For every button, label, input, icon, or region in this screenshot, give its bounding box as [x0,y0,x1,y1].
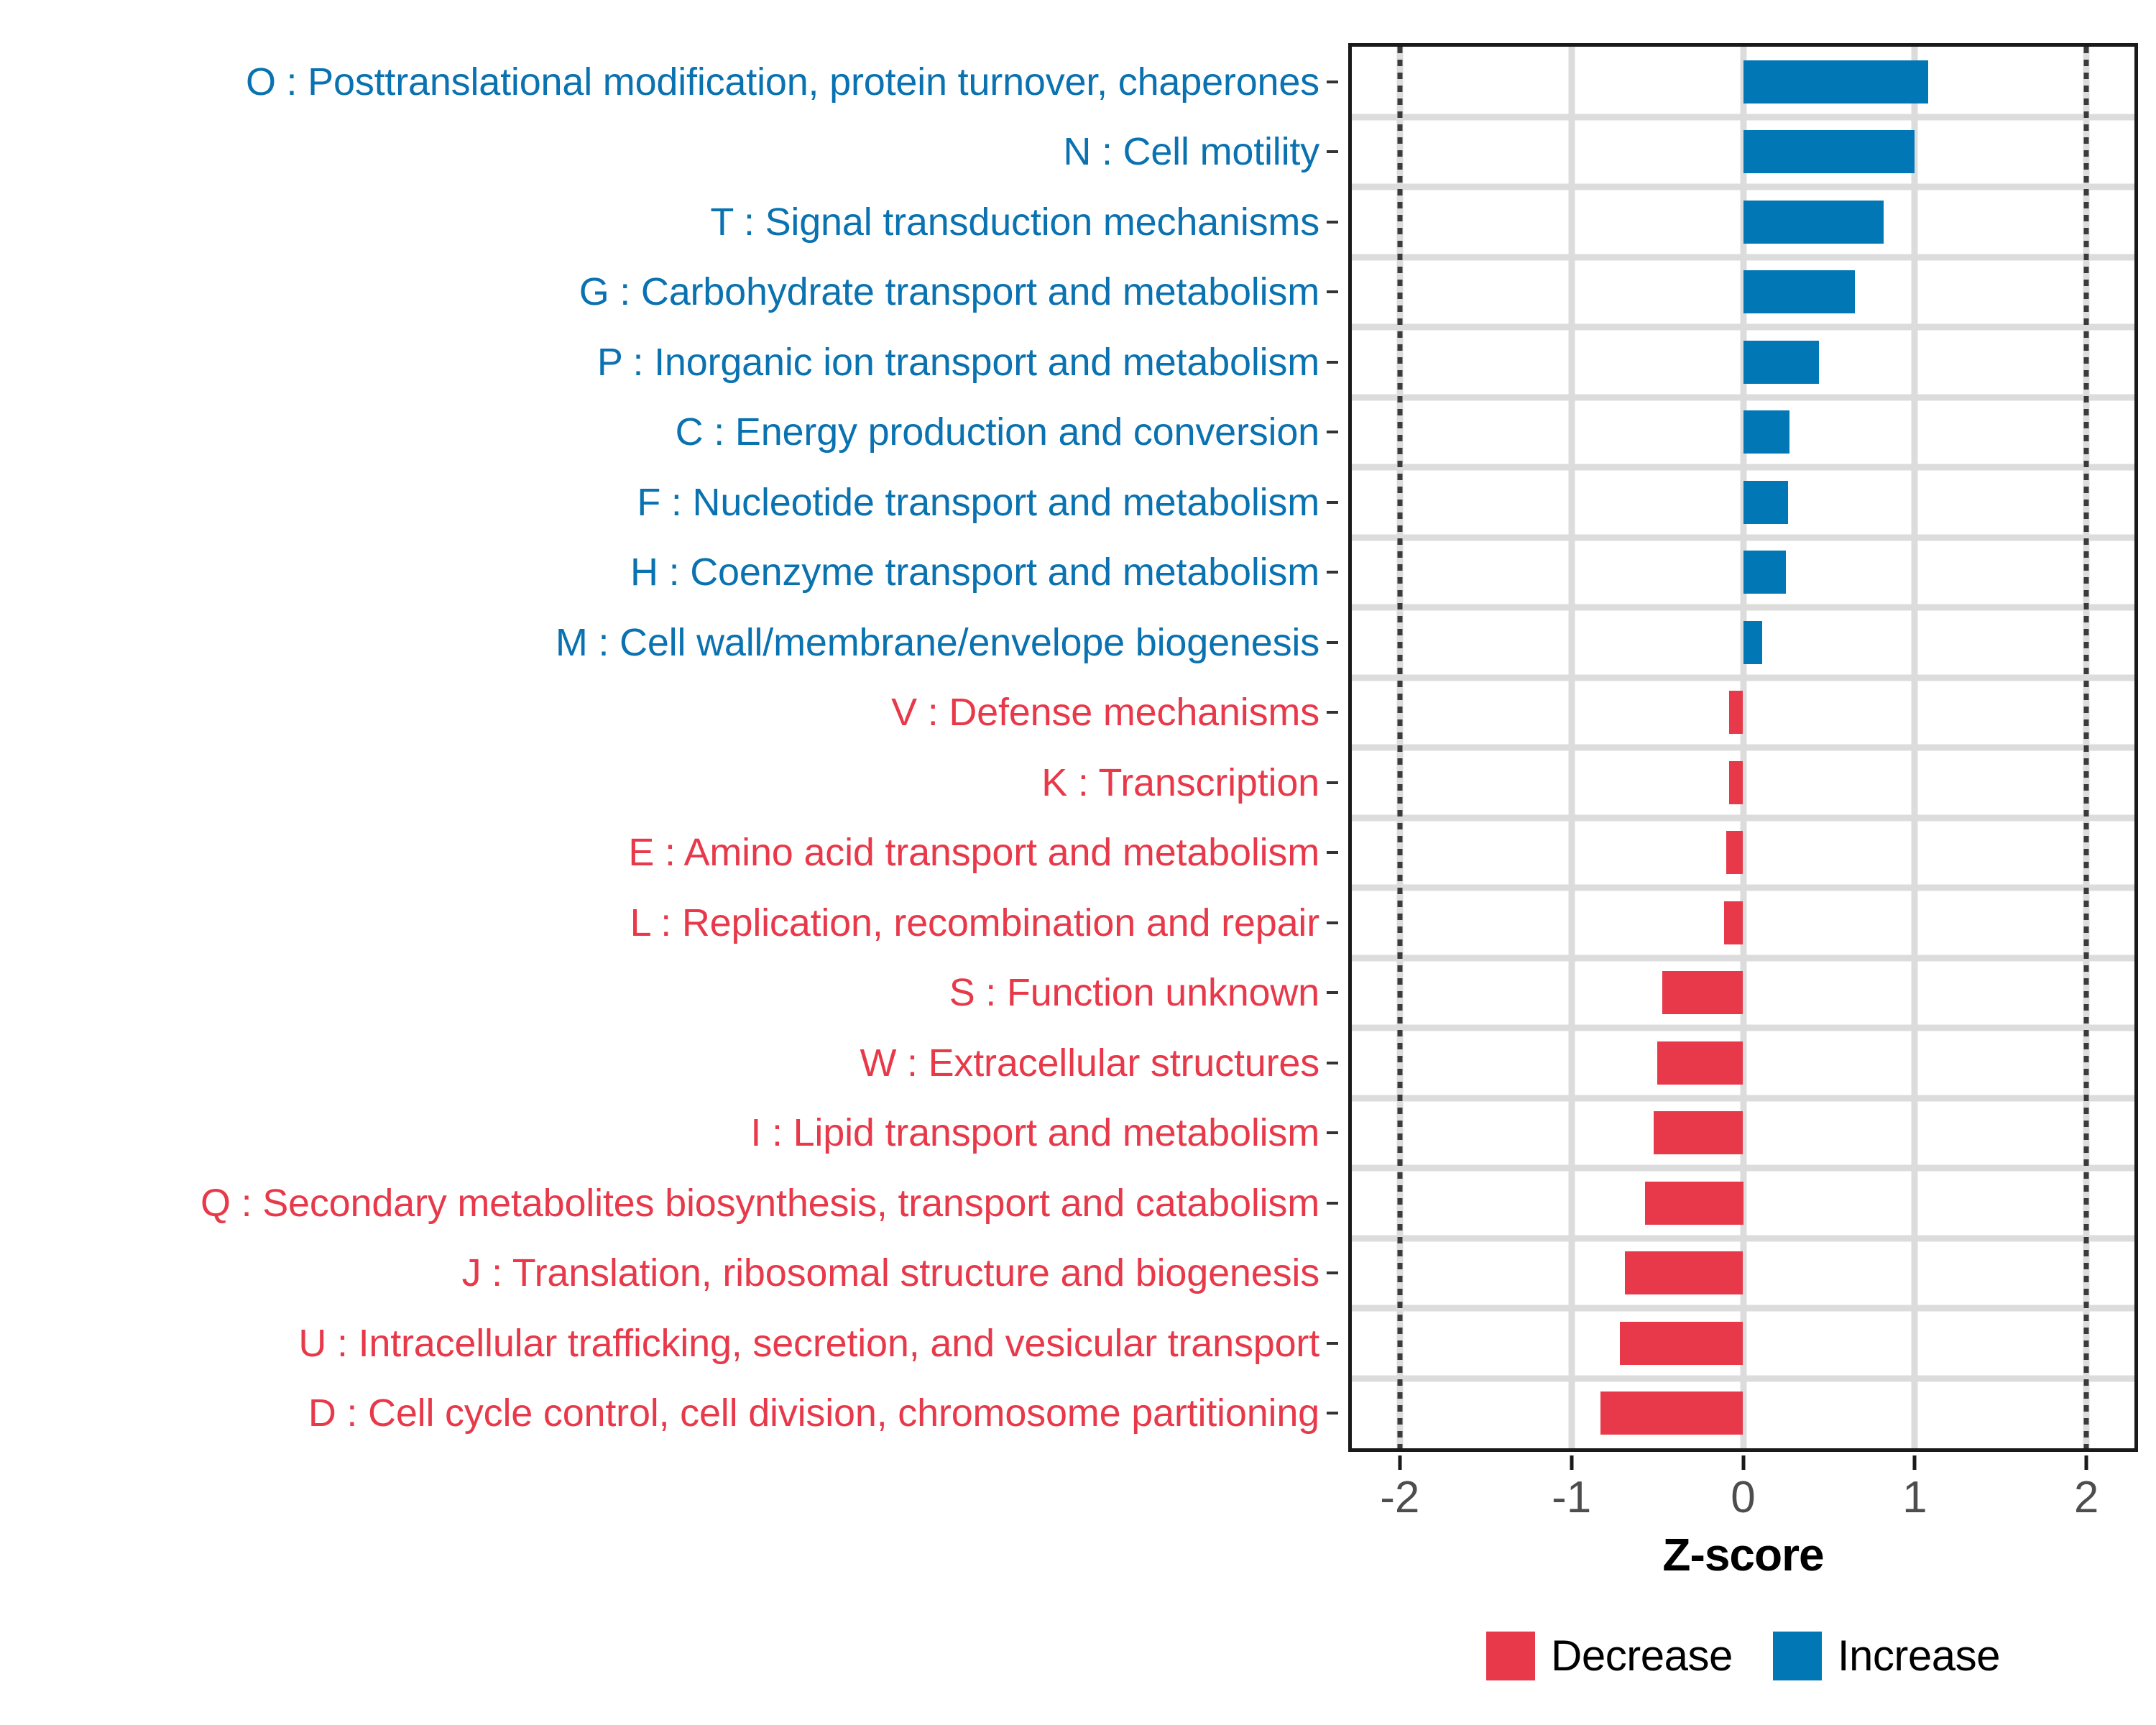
vertical-gridline [1568,47,1575,1448]
bar[interactable] [1743,60,1929,103]
bar[interactable] [1743,551,1787,594]
bar[interactable] [1743,410,1789,454]
category-label: G : Carbohydrate transport and metabolis… [0,270,1338,313]
bar[interactable] [1620,1322,1743,1365]
category-tick-icon [1327,501,1338,504]
category-label: M : Cell wall/membrane/envelope biogenes… [0,621,1338,664]
category-tick-icon [1327,571,1338,574]
x-axis-tick-label: 0 [1731,1472,1755,1524]
bar[interactable] [1729,761,1743,804]
plot-panel [1348,43,2138,1452]
category-label: H : Coenzyme transport and metabolism [0,551,1338,594]
category-tick-icon [1327,921,1338,924]
chart-root: O : Posttranslational modification, prot… [0,0,2156,1725]
category-label: E : Amino acid transport and metabolism [0,831,1338,874]
category-tick-icon [1327,361,1338,364]
category-tick-icon [1327,781,1338,784]
category-tick-icon [1327,851,1338,854]
category-label: O : Posttranslational modification, prot… [0,60,1338,103]
bar[interactable] [1625,1251,1743,1294]
x-axis-tick-icon [2085,1455,2088,1470]
legend-label-decrease: Decrease [1551,1632,1733,1680]
x-axis-tick-label: -1 [1552,1472,1591,1524]
category-tick-icon [1327,711,1338,714]
bar[interactable] [1662,971,1743,1014]
category-label: L : Replication, recombination and repai… [0,901,1338,944]
category-label: N : Cell motility [0,130,1338,173]
bar[interactable] [1724,901,1743,944]
category-label: V : Defense mechanisms [0,691,1338,734]
category-tick-icon [1327,150,1338,153]
category-tick-icon [1327,290,1338,293]
category-tick-icon [1327,221,1338,224]
bar[interactable] [1743,621,1762,664]
bar[interactable] [1743,130,1915,173]
category-label: W : Extracellular structures [0,1041,1338,1085]
x-axis-tick-label: -2 [1380,1472,1419,1524]
reference-line [1397,47,1402,1448]
x-axis-tick-icon [1570,1455,1573,1470]
chart-legend: Decrease Increase [1348,1632,2138,1680]
vertical-gridline [1912,47,1918,1448]
category-label: T : Signal transduction mechanisms [0,201,1338,244]
category-tick-icon [1327,641,1338,644]
category-tick-icon [1327,1062,1338,1064]
bar[interactable] [1726,831,1743,874]
legend-item-increase[interactable]: Increase [1773,1632,2000,1680]
legend-swatch-decrease-icon [1486,1632,1535,1680]
category-label: J : Translation, ribosomal structure and… [0,1251,1338,1294]
bar[interactable] [1743,270,1855,313]
category-axis-labels: O : Posttranslational modification, prot… [0,43,1338,1452]
bar[interactable] [1743,341,1819,384]
category-label: D : Cell cycle control, cell division, c… [0,1391,1338,1435]
vertical-gridline [1740,47,1746,1448]
category-tick-icon [1327,1271,1338,1274]
category-label: K : Transcription [0,761,1338,804]
bar[interactable] [1657,1041,1743,1085]
category-label: C : Energy production and conversion [0,410,1338,454]
category-tick-icon [1327,80,1338,83]
bar[interactable] [1600,1391,1743,1435]
category-tick-icon [1327,991,1338,994]
category-label: Q : Secondary metabolites biosynthesis, … [0,1182,1338,1225]
x-axis-title: Z-score [1348,1528,2138,1581]
bar[interactable] [1729,691,1743,734]
category-label: I : Lipid transport and metabolism [0,1111,1338,1154]
legend-swatch-increase-icon [1773,1632,1822,1680]
x-axis-tick-icon [1913,1455,1917,1470]
bar[interactable] [1645,1182,1743,1225]
bar[interactable] [1654,1111,1743,1154]
category-label: F : Nucleotide transport and metabolism [0,481,1338,524]
category-tick-icon [1327,1342,1338,1345]
category-label: P : Inorganic ion transport and metaboli… [0,341,1338,384]
category-label: S : Function unknown [0,971,1338,1014]
x-axis-tick-icon [1741,1455,1745,1470]
category-tick-icon [1327,431,1338,433]
legend-label-increase: Increase [1838,1632,2000,1680]
bar[interactable] [1743,201,1884,244]
category-label: U : Intracellular trafficking, secretion… [0,1322,1338,1365]
x-axis-tick-label: 2 [2074,1472,2099,1524]
x-axis-tick-label: 1 [1902,1472,1927,1524]
category-tick-icon [1327,1202,1338,1205]
category-tick-icon [1327,1412,1338,1414]
legend-item-decrease[interactable]: Decrease [1486,1632,1733,1680]
reference-line [2084,47,2089,1448]
x-axis-tick-icon [1398,1455,1401,1470]
plot-area [1352,47,2134,1448]
bar[interactable] [1743,481,1788,524]
category-tick-icon [1327,1131,1338,1134]
